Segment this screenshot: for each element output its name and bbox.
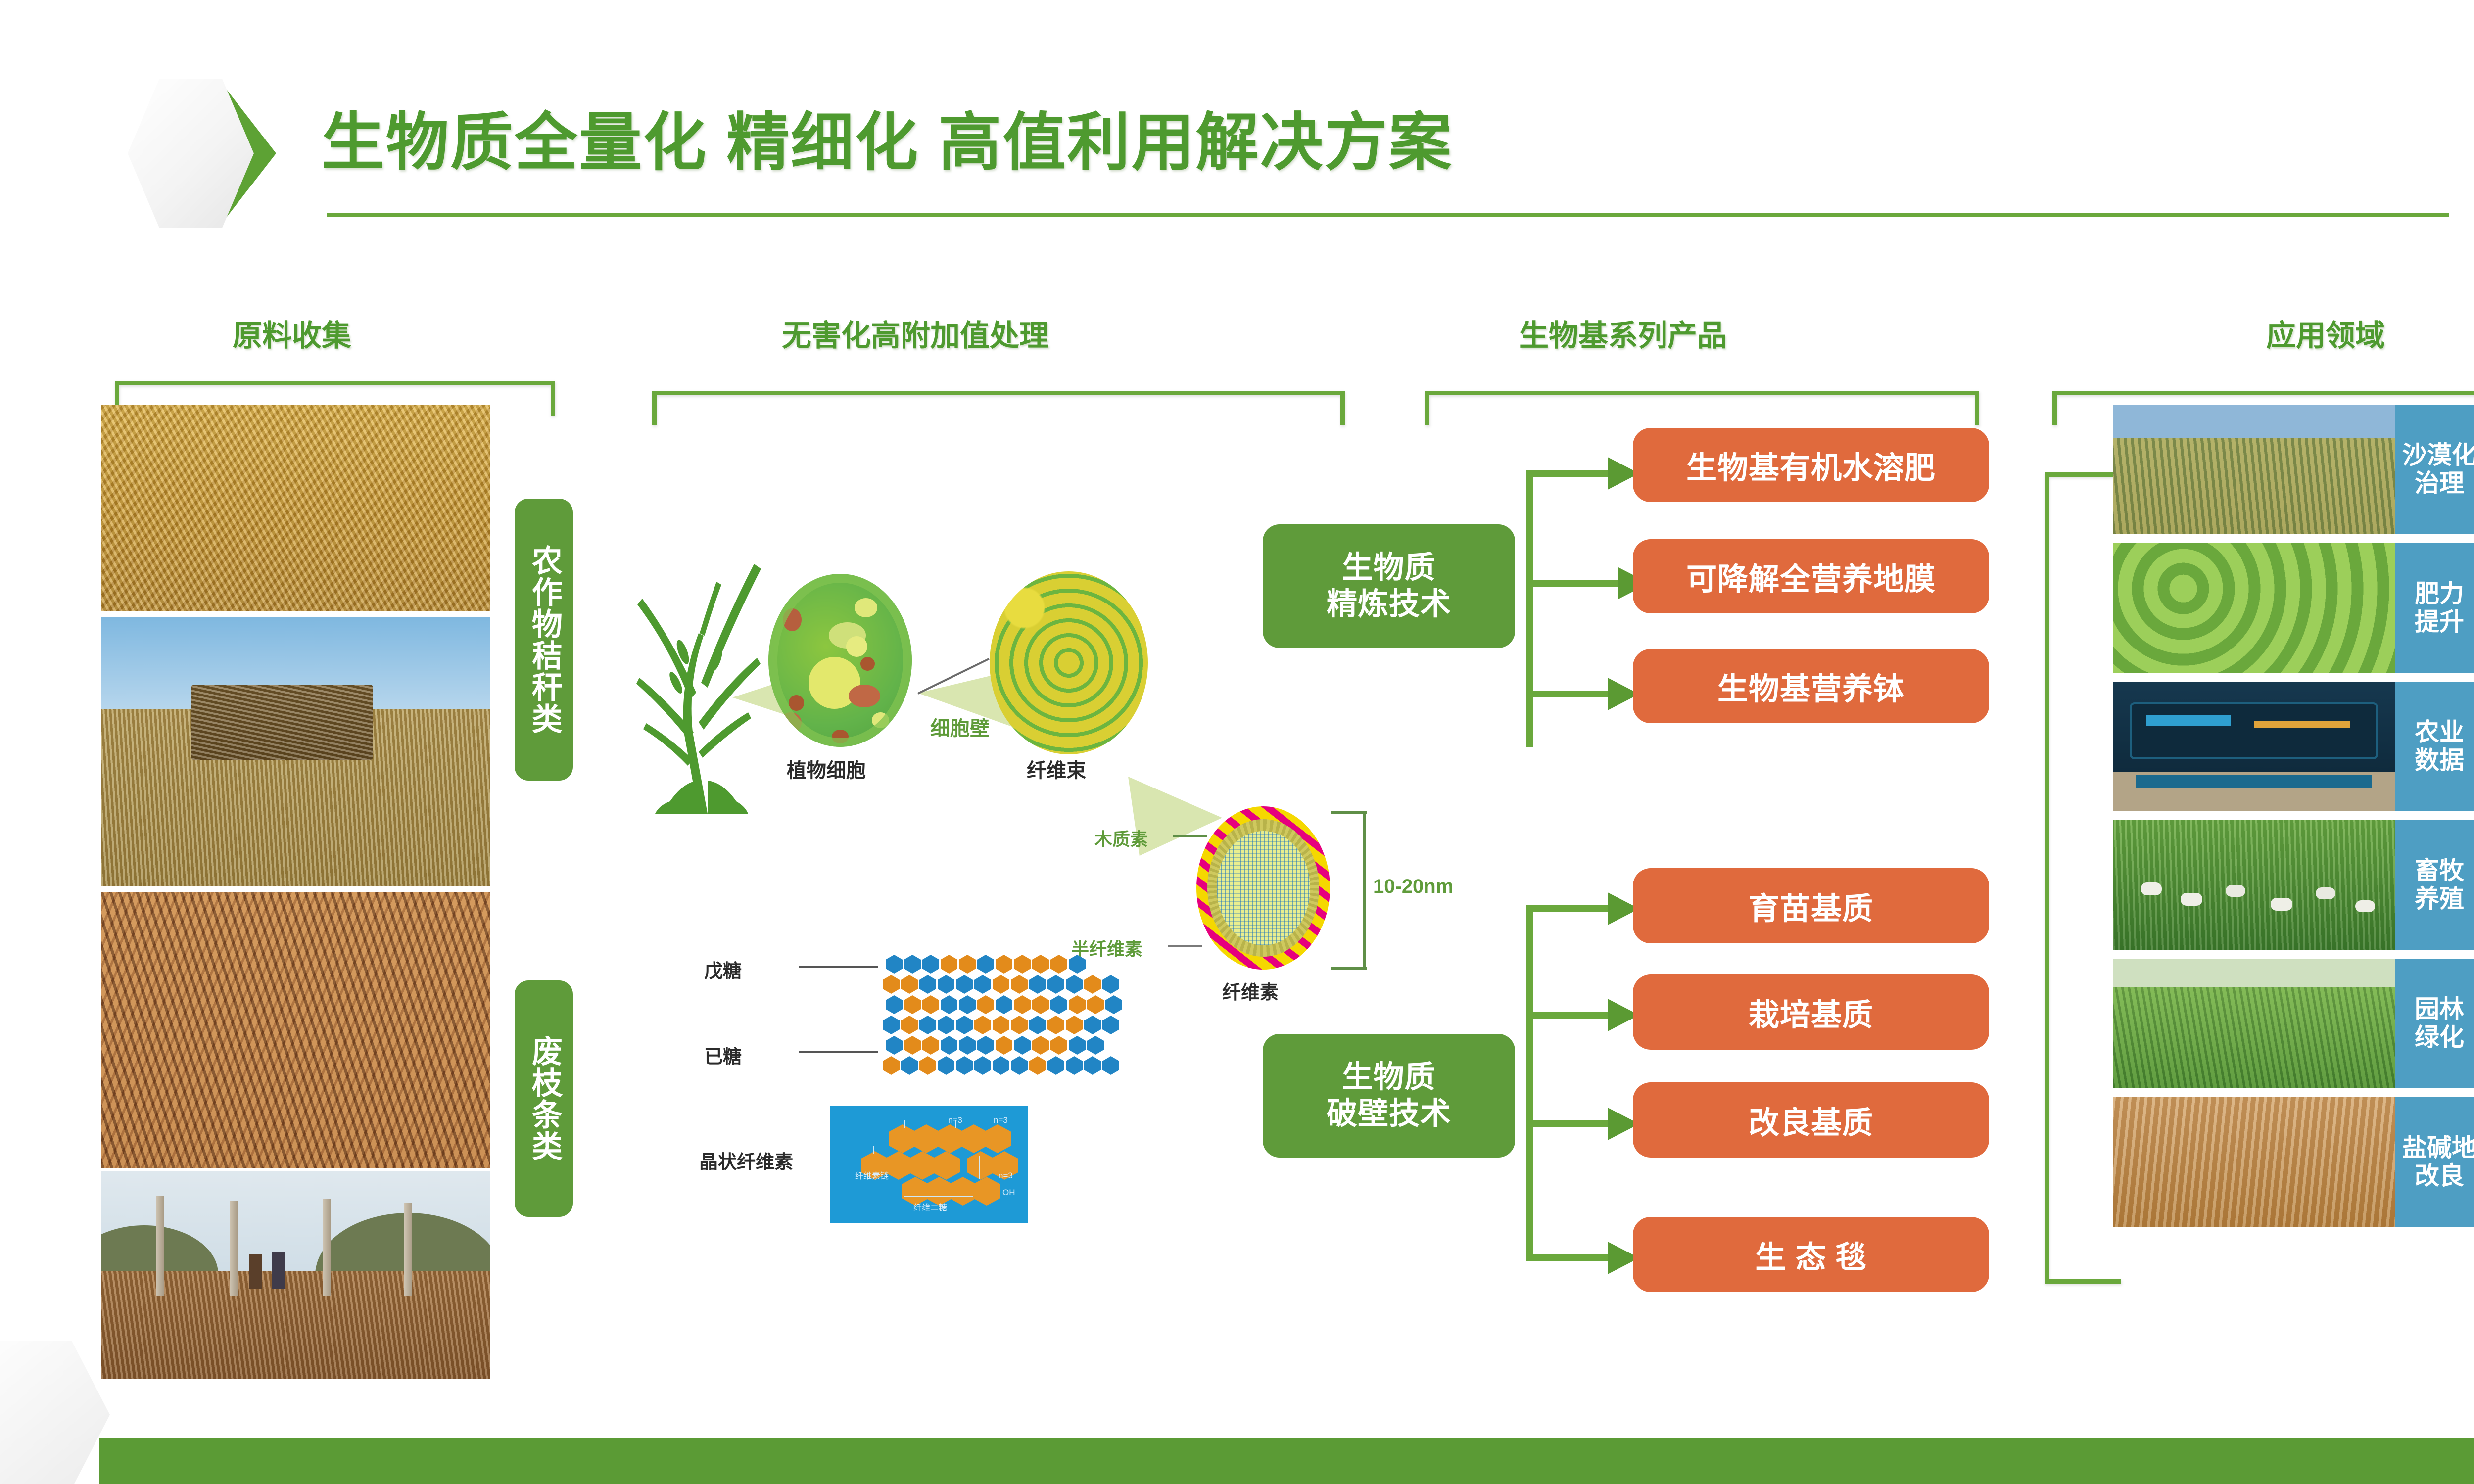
pentose-unit-icon bbox=[996, 995, 1012, 1014]
hexose-unit-icon bbox=[1066, 1016, 1083, 1034]
pentose-unit-icon bbox=[919, 1016, 936, 1034]
pentose-unit-icon bbox=[886, 1036, 903, 1055]
sugar-chain-row bbox=[886, 995, 1122, 1014]
hexose-unit-icon bbox=[959, 955, 976, 974]
photo-orchard-collection bbox=[101, 1171, 490, 1379]
connector-branch-r1 bbox=[1526, 470, 1611, 477]
application-desert-line2: 治理 bbox=[2415, 469, 2464, 498]
feedstock-tag-crop-straw: 农作物秸秆类 bbox=[515, 499, 573, 781]
pentose-unit-icon bbox=[883, 1016, 900, 1034]
pentose-unit-icon bbox=[1069, 1036, 1086, 1055]
sugar-chain-row bbox=[886, 955, 1086, 974]
fiber-cross-section-illustration bbox=[1196, 806, 1330, 970]
application-label-saline: 盐碱地 改良 bbox=[2395, 1097, 2474, 1227]
application-label-landscaping: 园林 绿化 bbox=[2395, 959, 2474, 1088]
hexose-unit-icon bbox=[922, 995, 939, 1014]
pentose-unit-icon bbox=[1014, 1036, 1031, 1055]
application-thumb-landscaping bbox=[2113, 959, 2395, 1088]
hemicellulose-leader-line bbox=[1168, 945, 1202, 947]
pentose-unit-icon bbox=[901, 1056, 918, 1075]
label-cellulose: 纤维素 bbox=[1222, 977, 1279, 1004]
application-saline-line1: 盐碱地 bbox=[2402, 1134, 2474, 1162]
section-bracket-products bbox=[1425, 391, 1979, 425]
section-header-processing: 无害化高附加值处理 bbox=[713, 312, 1118, 355]
pentose-unit-icon bbox=[956, 1056, 973, 1075]
hexose-unit-icon bbox=[1032, 1036, 1049, 1055]
connector-spine-refining bbox=[1526, 470, 1533, 747]
application-thumb-saline bbox=[2113, 1097, 2395, 1227]
footer-hexagon-icon bbox=[0, 1341, 110, 1484]
pentose-unit-icon bbox=[941, 995, 957, 1014]
pentose-unit-icon bbox=[959, 1036, 976, 1055]
note-cellulose-chain: 纤维素链 bbox=[855, 1169, 889, 1181]
infographic-page: 生物质全量化 精细化 高值利用解决方案 原料收集 无害化高附加值处理 生物基系列… bbox=[0, 0, 2474, 1484]
pentose-unit-icon bbox=[938, 1016, 954, 1034]
product-pill-nutrient-pot[interactable]: 生物基营养钵 bbox=[1633, 649, 1989, 723]
hexose-unit-icon bbox=[993, 975, 1009, 994]
tech-pill-cell-wall-breaking[interactable]: 生物质 破壁技术 bbox=[1263, 1034, 1515, 1158]
hexose-unit-icon bbox=[1050, 1036, 1067, 1055]
hexose-unit-icon bbox=[901, 975, 918, 994]
photo-straw-bale-field bbox=[101, 617, 490, 886]
application-livestock-line2: 养殖 bbox=[2415, 885, 2464, 913]
application-label-fertility: 肥力 提升 bbox=[2395, 543, 2474, 673]
label-pentose: 戊糖 bbox=[704, 956, 742, 983]
pentose-unit-icon bbox=[886, 955, 903, 974]
tech-breaking-line1: 生物质 bbox=[1342, 1059, 1435, 1096]
connector-branch-b1 bbox=[1526, 905, 1611, 912]
application-landscaping-line2: 绿化 bbox=[2415, 1023, 2464, 1052]
plant-cell-illustration bbox=[768, 574, 912, 747]
hexose-unit-icon bbox=[1084, 975, 1101, 994]
pentose-unit-icon bbox=[1029, 1016, 1046, 1034]
hexose-unit-icon bbox=[996, 955, 1012, 974]
label-fiber-bundle: 纤维束 bbox=[1027, 754, 1086, 783]
hexose-unit-icon bbox=[922, 1036, 939, 1055]
crystalline-cellulose-diagram: n=3 n=3 n=3 纤维素链 纤维二糖 OH bbox=[830, 1106, 1028, 1223]
pentose-unit-icon bbox=[904, 955, 921, 974]
pentose-unit-icon bbox=[1102, 1056, 1119, 1075]
pentose-unit-icon bbox=[1066, 1056, 1083, 1075]
application-row-agri-data[interactable]: 农业 数据 bbox=[2113, 682, 2474, 811]
pentose-unit-icon bbox=[1029, 975, 1046, 994]
pentose-unit-icon bbox=[1087, 1036, 1104, 1055]
section-bracket-processing bbox=[652, 391, 1345, 425]
photo-pruned-branches bbox=[101, 892, 490, 1168]
hexose-unit-icon bbox=[993, 1016, 1009, 1034]
sugar-chain-row bbox=[886, 1036, 1104, 1055]
application-desert-line1: 沙漠化 bbox=[2402, 441, 2474, 469]
section-header-products: 生物基系列产品 bbox=[1420, 312, 1826, 355]
application-livestock-line1: 畜牧 bbox=[2415, 857, 2464, 885]
application-label-livestock: 畜牧 养殖 bbox=[2395, 820, 2474, 950]
hexose-leader-line bbox=[799, 1051, 878, 1053]
sugar-chain-row bbox=[883, 1016, 1119, 1034]
connector-branch-b3 bbox=[1526, 1120, 1611, 1127]
product-pill-biodegradable-mulch-film[interactable]: 可降解全营养地膜 bbox=[1633, 539, 1989, 613]
hexose-unit-icon bbox=[1087, 995, 1104, 1014]
application-thumb-livestock bbox=[2113, 820, 2395, 950]
application-label-agri-data: 农业 数据 bbox=[2395, 682, 2474, 811]
product-pill-seedling-substrate[interactable]: 育苗基质 bbox=[1633, 868, 1989, 943]
connector-branch-b2 bbox=[1526, 1012, 1611, 1019]
hexose-unit-icon bbox=[1050, 955, 1067, 974]
hexose-unit-icon bbox=[1011, 975, 1028, 994]
product-pill-water-soluble-fertilizer[interactable]: 生物基有机水溶肥 bbox=[1633, 428, 1989, 502]
note-oh: OH bbox=[1002, 1188, 1015, 1198]
label-cell-wall: 细胞壁 bbox=[930, 712, 990, 741]
dimension-tick-top bbox=[1331, 811, 1367, 814]
title-divider bbox=[327, 213, 2449, 217]
pentose-unit-icon bbox=[1050, 995, 1067, 1014]
hexose-unit-icon bbox=[901, 1016, 918, 1034]
application-agri-data-line1: 农业 bbox=[2415, 718, 2464, 746]
application-row-livestock[interactable]: 畜牧 养殖 bbox=[2113, 820, 2474, 950]
label-lignin: 木质素 bbox=[1094, 825, 1148, 851]
hexose-unit-icon bbox=[977, 995, 994, 1014]
pentose-leader-line bbox=[799, 966, 878, 968]
pentose-unit-icon bbox=[1084, 1056, 1101, 1075]
application-row-saline[interactable]: 盐碱地 改良 bbox=[2113, 1097, 2474, 1227]
application-saline-line2: 改良 bbox=[2415, 1162, 2464, 1190]
hexose-unit-icon bbox=[1032, 995, 1049, 1014]
applications-connector-bracket bbox=[2045, 472, 2121, 1284]
page-title: 生物质全量化 精细化 高值利用解决方案 bbox=[322, 92, 1453, 183]
pentose-unit-icon bbox=[993, 1056, 1009, 1075]
tech-breaking-line2: 破壁技术 bbox=[1327, 1096, 1451, 1132]
application-fertility-line1: 肥力 bbox=[2415, 580, 2464, 608]
connector-spine-breaking bbox=[1526, 905, 1533, 1261]
hexose-unit-icon bbox=[1032, 955, 1049, 974]
hexose-unit-icon bbox=[1014, 955, 1031, 974]
plant-silhouette-icon bbox=[624, 534, 778, 816]
lignin-leader-line bbox=[1173, 835, 1207, 837]
pentose-unit-icon bbox=[1011, 1056, 1028, 1075]
tech-refining-line1: 生物质 bbox=[1342, 550, 1435, 586]
connector-branch-b4 bbox=[1526, 1254, 1611, 1261]
hexose-unit-icon bbox=[941, 955, 957, 974]
hexose-unit-icon bbox=[1029, 1056, 1046, 1075]
pentose-unit-icon bbox=[1047, 1056, 1064, 1075]
product-pill-eco-blanket[interactable]: 生 态 毯 bbox=[1633, 1217, 1989, 1292]
hexose-unit-icon bbox=[1011, 1016, 1028, 1034]
pentose-unit-icon bbox=[1105, 995, 1122, 1014]
pentose-unit-icon bbox=[1084, 1016, 1101, 1034]
pentose-unit-icon bbox=[974, 1056, 991, 1075]
application-thumb-fertility bbox=[2113, 543, 2395, 673]
hexose-unit-icon bbox=[904, 1036, 921, 1055]
label-hexose: 已糖 bbox=[704, 1041, 742, 1068]
pentose-unit-icon bbox=[1069, 955, 1086, 974]
label-dimension: 10-20nm bbox=[1373, 876, 1453, 898]
footer-bar bbox=[99, 1438, 2474, 1484]
photo-corn-stover bbox=[101, 405, 490, 611]
hexose-unit-icon bbox=[1014, 995, 1031, 1014]
pentose-unit-icon bbox=[938, 1056, 954, 1075]
section-header-applications: 应用领域 bbox=[2128, 312, 2474, 355]
fiber-bundle-illustration bbox=[990, 571, 1148, 754]
note-n3-b: n=3 bbox=[994, 1115, 1008, 1125]
pentose-unit-icon bbox=[1047, 975, 1064, 994]
application-thumb-desert bbox=[2113, 405, 2395, 534]
hexose-unit-icon bbox=[904, 995, 921, 1014]
connector-branch-r2 bbox=[1526, 580, 1620, 587]
pentose-unit-icon bbox=[959, 995, 976, 1014]
product-pill-improvement-substrate[interactable]: 改良基质 bbox=[1633, 1082, 1989, 1158]
application-label-desert: 沙漠化 治理 bbox=[2395, 405, 2474, 534]
hexose-unit-icon bbox=[883, 975, 900, 994]
hexagon-logo bbox=[128, 79, 276, 228]
pentose-unit-icon bbox=[977, 1036, 994, 1055]
note-cellobiose: 纤维二糖 bbox=[913, 1201, 947, 1213]
pentose-unit-icon bbox=[1102, 1016, 1119, 1034]
connector-branch-r3 bbox=[1526, 691, 1611, 697]
dimension-tick-bottom bbox=[1331, 967, 1367, 970]
section-header-feedstock: 原料收集 bbox=[168, 312, 416, 355]
pentose-unit-icon bbox=[1102, 975, 1119, 994]
pentose-unit-icon bbox=[956, 975, 973, 994]
hexose-unit-icon bbox=[974, 1016, 991, 1034]
dimension-bar bbox=[1363, 811, 1366, 970]
pentose-unit-icon bbox=[977, 955, 994, 974]
pentose-unit-icon bbox=[922, 955, 939, 974]
application-thumb-agri-data bbox=[2113, 682, 2395, 811]
sugar-chain-row bbox=[883, 1056, 1119, 1075]
pentose-unit-icon bbox=[974, 975, 991, 994]
application-agri-data-line2: 数据 bbox=[2415, 746, 2464, 775]
hexose-unit-icon bbox=[919, 1056, 936, 1075]
sugar-chain-row bbox=[883, 975, 1119, 994]
note-n3-a: n=3 bbox=[948, 1115, 962, 1125]
pentose-unit-icon bbox=[956, 1016, 973, 1034]
hexose-unit-icon bbox=[1047, 1016, 1064, 1034]
feedstock-tag-waste-branches: 废枝条类 bbox=[515, 980, 573, 1217]
hexose-unit-icon bbox=[1069, 995, 1086, 1014]
tech-refining-line2: 精炼技术 bbox=[1327, 586, 1451, 623]
application-fertility-line2: 提升 bbox=[2415, 608, 2464, 636]
hexose-unit-icon bbox=[996, 1036, 1012, 1055]
label-crystalline-cellulose: 晶状纤维素 bbox=[699, 1147, 793, 1174]
application-landscaping-line1: 园林 bbox=[2415, 995, 2464, 1023]
note-n3-c: n=3 bbox=[999, 1171, 1013, 1181]
pentose-unit-icon bbox=[941, 1036, 957, 1055]
pentose-unit-icon bbox=[938, 975, 954, 994]
application-row-desert[interactable]: 沙漠化 治理 bbox=[2113, 405, 2474, 534]
product-pill-cultivation-substrate[interactable]: 栽培基质 bbox=[1633, 974, 1989, 1050]
application-row-fertility[interactable]: 肥力 提升 bbox=[2113, 543, 2474, 673]
pentose-unit-icon bbox=[886, 995, 903, 1014]
tech-pill-refining[interactable]: 生物质 精炼技术 bbox=[1263, 524, 1515, 648]
pentose-unit-icon bbox=[919, 975, 936, 994]
pentose-unit-icon bbox=[1066, 975, 1083, 994]
application-row-landscaping[interactable]: 园林 绿化 bbox=[2113, 959, 2474, 1088]
label-plant-cell: 植物细胞 bbox=[787, 754, 866, 783]
hexose-unit-icon bbox=[883, 1056, 900, 1075]
